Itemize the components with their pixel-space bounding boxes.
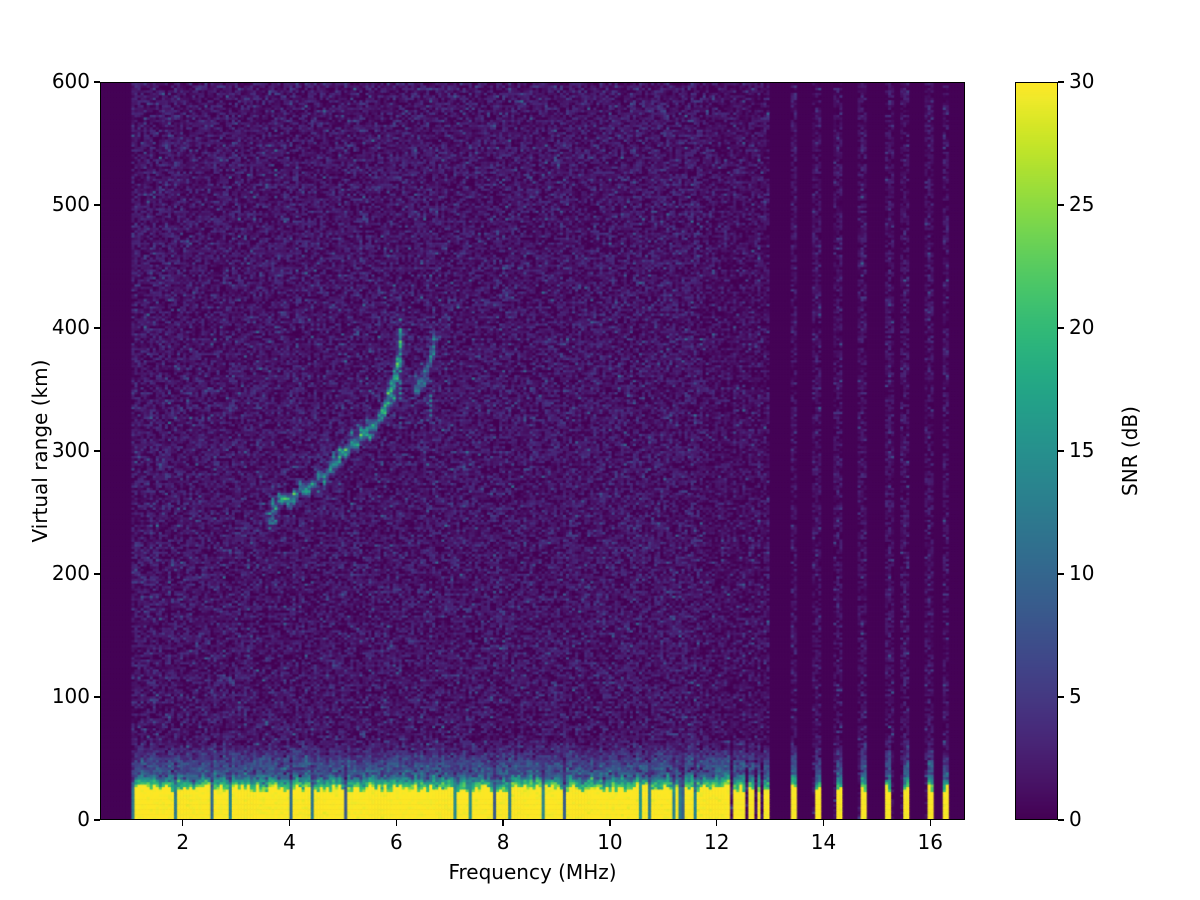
- x-tick-mark: [396, 820, 397, 826]
- x-tick-label: 6: [356, 830, 436, 854]
- y-tick-label: 0: [77, 807, 90, 831]
- x-tick-label: 8: [463, 830, 543, 854]
- y-tick-label: 400: [52, 315, 90, 339]
- colorbar-tick-label: 5: [1069, 684, 1082, 708]
- y-tick-mark: [94, 327, 100, 328]
- x-tick-mark: [609, 820, 610, 826]
- y-tick-mark: [94, 81, 100, 82]
- x-axis-label: Frequency (MHz): [100, 860, 965, 884]
- x-tick-label: 14: [784, 830, 864, 854]
- x-tick-mark: [930, 820, 931, 826]
- y-axis-label: Virtual range (km): [28, 360, 52, 543]
- ionogram-figure: IRF Kiruna Ionosonde KI167 2026-03-25 15…: [0, 0, 1200, 900]
- y-tick-mark: [94, 450, 100, 451]
- colorbar-tick-mark: [1058, 573, 1064, 574]
- x-tick-mark: [716, 820, 717, 826]
- colorbar-tick-mark: [1058, 696, 1064, 697]
- colorbar-label: SNR (dB): [1118, 406, 1142, 496]
- x-tick-label: 2: [143, 830, 223, 854]
- colorbar-tick-label: 25: [1069, 192, 1094, 216]
- x-tick-label: 4: [250, 830, 330, 854]
- colorbar-tick-label: 15: [1069, 438, 1094, 462]
- colorbar-tick-label: 10: [1069, 561, 1094, 585]
- colorbar-tick-mark: [1058, 81, 1064, 82]
- x-tick-mark: [289, 820, 290, 826]
- y-tick-label: 100: [52, 684, 90, 708]
- colorbar-tick-label: 0: [1069, 807, 1082, 831]
- y-tick-mark: [94, 819, 100, 820]
- x-tick-mark: [182, 820, 183, 826]
- colorbar-tick-label: 20: [1069, 315, 1094, 339]
- y-tick-label: 300: [52, 438, 90, 462]
- ionogram-heatmap: [101, 83, 964, 819]
- y-tick-mark: [94, 573, 100, 574]
- colorbar-tick-mark: [1058, 450, 1064, 451]
- colorbar-tick-mark: [1058, 819, 1064, 820]
- x-tick-label: 16: [890, 830, 970, 854]
- colorbar-tick-mark: [1058, 327, 1064, 328]
- colorbar-tick-label: 30: [1069, 69, 1094, 93]
- y-tick-label: 600: [52, 69, 90, 93]
- y-tick-mark: [94, 204, 100, 205]
- x-tick-mark: [502, 820, 503, 826]
- colorbar: [1015, 82, 1058, 820]
- x-tick-mark: [823, 820, 824, 826]
- x-tick-label: 10: [570, 830, 650, 854]
- y-tick-mark: [94, 696, 100, 697]
- y-tick-label: 200: [52, 561, 90, 585]
- colorbar-gradient: [1016, 83, 1057, 819]
- y-tick-label: 500: [52, 192, 90, 216]
- x-tick-label: 12: [677, 830, 757, 854]
- colorbar-tick-mark: [1058, 204, 1064, 205]
- ionogram-axes: [100, 82, 965, 820]
